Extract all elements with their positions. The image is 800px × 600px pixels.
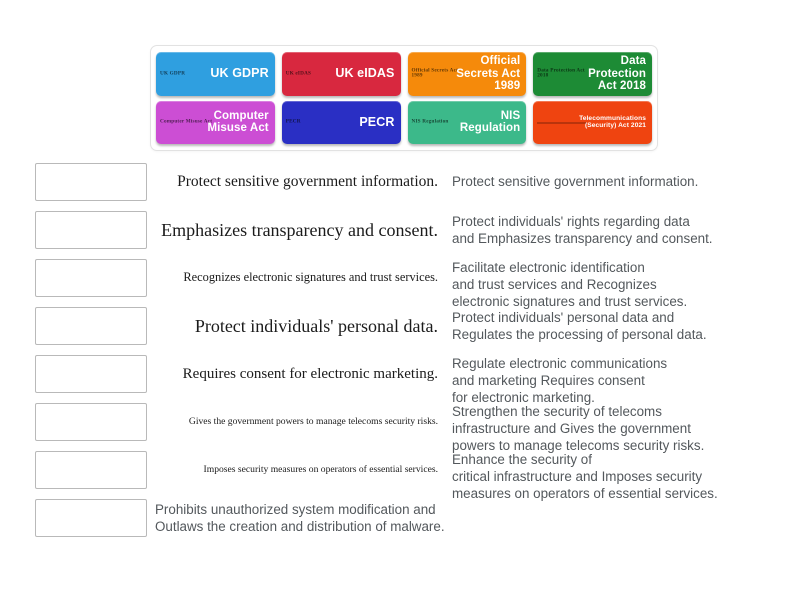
answer-tile[interactable]: UK eIDASUK eIDAS <box>282 52 401 96</box>
answer-tile-thumbnail: NIS Regulation <box>412 120 449 125</box>
prompt-text: Prohibits unauthorized system modificati… <box>147 499 787 537</box>
match-rows: Protect sensitive government information… <box>0 163 800 553</box>
activity-canvas: UK GDPRUK GDPRUK eIDASUK eIDASOfficial S… <box>0 0 800 600</box>
drop-zone[interactable] <box>35 163 147 201</box>
answer-tile[interactable]: Computer Misuse ActComputer Misuse Act <box>156 101 275 145</box>
answer-tile-thumbnail: UK eIDAS <box>286 71 311 76</box>
drop-zone[interactable] <box>35 403 147 441</box>
definition-text: Enhance the security of critical infrast… <box>442 451 772 502</box>
match-row: Gives the government powers to manage te… <box>0 403 800 454</box>
match-row: Imposes security measures on operators o… <box>0 451 800 502</box>
answer-tile[interactable]: NIS RegulationNIS Regulation <box>408 101 527 145</box>
answer-tile-label: UK eIDAS <box>335 67 394 81</box>
match-row: Protect individuals' personal data.Prote… <box>0 307 800 345</box>
answer-tile-label: Data Protection Act 2018 <box>578 55 646 92</box>
definition-text: Protect individuals' rights regarding da… <box>442 211 772 249</box>
prompt-text: Protect sensitive government information… <box>147 163 442 201</box>
definition-text: Protect sensitive government information… <box>442 163 772 201</box>
answer-tile-label: NIS Regulation <box>452 110 520 135</box>
drop-zone[interactable] <box>35 355 147 393</box>
answer-tiles-grid: UK GDPRUK GDPRUK eIDASUK eIDASOfficial S… <box>156 52 652 144</box>
answer-tile-label: Computer Misuse Act <box>201 110 269 135</box>
match-row: Emphasizes transparency and consent.Prot… <box>0 211 800 249</box>
answer-tile-label: PECR <box>359 116 394 130</box>
drop-zone[interactable] <box>35 499 147 537</box>
match-row: Protect sensitive government information… <box>0 163 800 201</box>
answer-tile-thumbnail: PECR <box>286 120 301 125</box>
drop-zone[interactable] <box>35 259 147 297</box>
answer-tile[interactable]: Telecommunications (Security) Act 2021 <box>533 101 652 145</box>
match-row: Prohibits unauthorized system modificati… <box>0 499 800 537</box>
prompt-text: Protect individuals' personal data. <box>147 307 442 345</box>
drop-zone[interactable] <box>35 307 147 345</box>
definition-text: Strengthen the security of telecoms infr… <box>442 403 772 454</box>
definition-text: Regulate electronic communications and m… <box>442 355 772 406</box>
definition-text: Facilitate electronic identification and… <box>442 259 772 310</box>
answer-tile[interactable]: Official Secrets Act 1989Official Secret… <box>408 52 527 96</box>
answer-tile[interactable]: Data Protection Act 2018Data Protection … <box>533 52 652 96</box>
match-row: Requires consent for electronic marketin… <box>0 355 800 406</box>
answer-tiles-panel: UK GDPRUK GDPRUK eIDASUK eIDASOfficial S… <box>150 45 658 151</box>
definition-text: Protect individuals' personal data and R… <box>442 307 772 345</box>
prompt-text: Emphasizes transparency and consent. <box>147 211 442 249</box>
answer-tile-label: Telecommunications (Security) Act 2021 <box>578 115 646 130</box>
answer-tile-thumbnail: UK GDPR <box>160 71 185 76</box>
prompt-text: Imposes security measures on operators o… <box>147 451 442 489</box>
answer-tile-label: Official Secrets Act 1989 <box>452 55 520 92</box>
drop-zone[interactable] <box>35 451 147 489</box>
answer-tile-label: UK GDPR <box>210 67 268 81</box>
prompt-text: Requires consent for electronic marketin… <box>147 355 442 393</box>
answer-tile[interactable]: PECRPECR <box>282 101 401 145</box>
prompt-text: Gives the government powers to manage te… <box>147 403 442 441</box>
drop-zone[interactable] <box>35 211 147 249</box>
prompt-text: Recognizes electronic signatures and tru… <box>147 259 442 297</box>
match-row: Recognizes electronic signatures and tru… <box>0 259 800 310</box>
answer-tile[interactable]: UK GDPRUK GDPR <box>156 52 275 96</box>
